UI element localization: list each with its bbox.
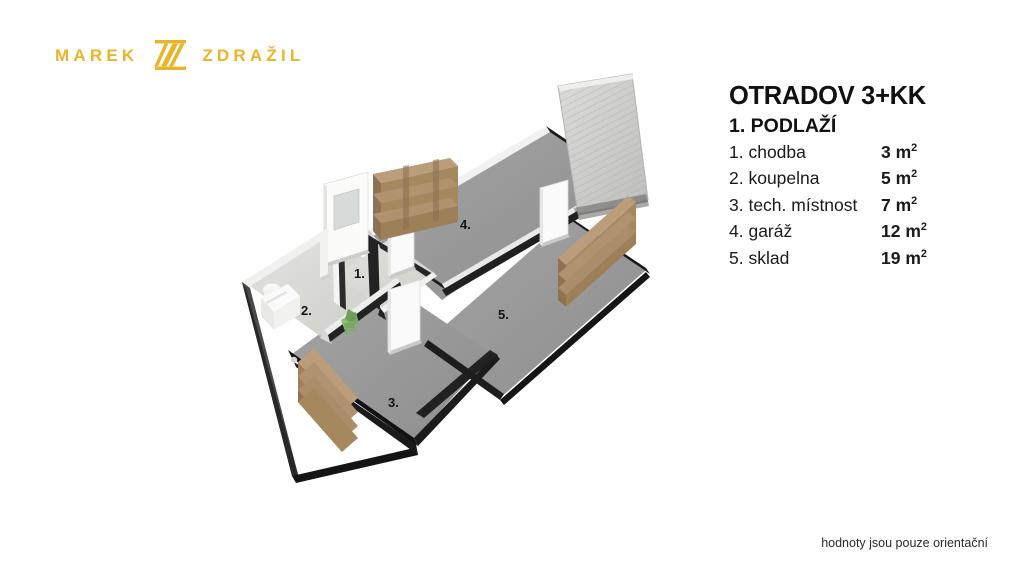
interior-door-room4-room5[interactable] bbox=[540, 180, 570, 247]
interior-door-right[interactable] bbox=[388, 280, 422, 355]
bathroom-fixtures bbox=[261, 284, 300, 331]
room-name: 5. sklad bbox=[729, 248, 881, 269]
room-area: 3 m2 bbox=[881, 142, 917, 163]
room-area: 12 m2 bbox=[881, 221, 927, 242]
room-list-item: 5. sklad 19 m2 bbox=[729, 248, 1004, 275]
title-block: OTRADOV 3+KK 1. PODLAŽÍ 1. chodba 3 m2 2… bbox=[729, 82, 1004, 274]
room-label-4: 4. bbox=[460, 217, 471, 232]
room-area: 7 m2 bbox=[881, 195, 917, 216]
room-label-2: 2. bbox=[301, 303, 312, 318]
disclaimer-text: hodnoty jsou pouze orientační bbox=[821, 536, 988, 550]
floorplan-page: MAREK ZDRAŽIL bbox=[0, 0, 1024, 576]
page-title: OTRADOV 3+KK bbox=[729, 82, 1004, 111]
room-list-item: 1. chodba 3 m2 bbox=[729, 142, 1004, 169]
room-name: 3. tech. místnost bbox=[729, 195, 881, 216]
room-name: 4. garáž bbox=[729, 221, 881, 242]
room-area: 5 m2 bbox=[881, 168, 917, 189]
floor-subtitle: 1. PODLAŽÍ bbox=[729, 115, 1004, 137]
room-label-1: 1. bbox=[354, 266, 365, 281]
logo-word-marek: MAREK bbox=[55, 47, 138, 64]
room-area-list: 1. chodba 3 m2 2. koupelna 5 m2 3. tech.… bbox=[729, 142, 1004, 275]
floorplan-render: 1. 2. 3. 4. 5. bbox=[228, 62, 658, 502]
logo-word-zdrazil: ZDRAŽIL bbox=[202, 47, 304, 64]
room-label-3: 3. bbox=[388, 395, 399, 410]
room-list-item: 2. koupelna 5 m2 bbox=[729, 168, 1004, 195]
room-list-item: 3. tech. místnost 7 m2 bbox=[729, 195, 1004, 222]
room-name: 1. chodba bbox=[729, 142, 881, 163]
room-name: 2. koupelna bbox=[729, 168, 881, 189]
room-area: 19 m2 bbox=[881, 248, 927, 269]
room-list-item: 4. garáž 12 m2 bbox=[729, 221, 1004, 248]
room-label-5: 5. bbox=[498, 307, 509, 322]
z-monogram-icon bbox=[150, 38, 192, 72]
